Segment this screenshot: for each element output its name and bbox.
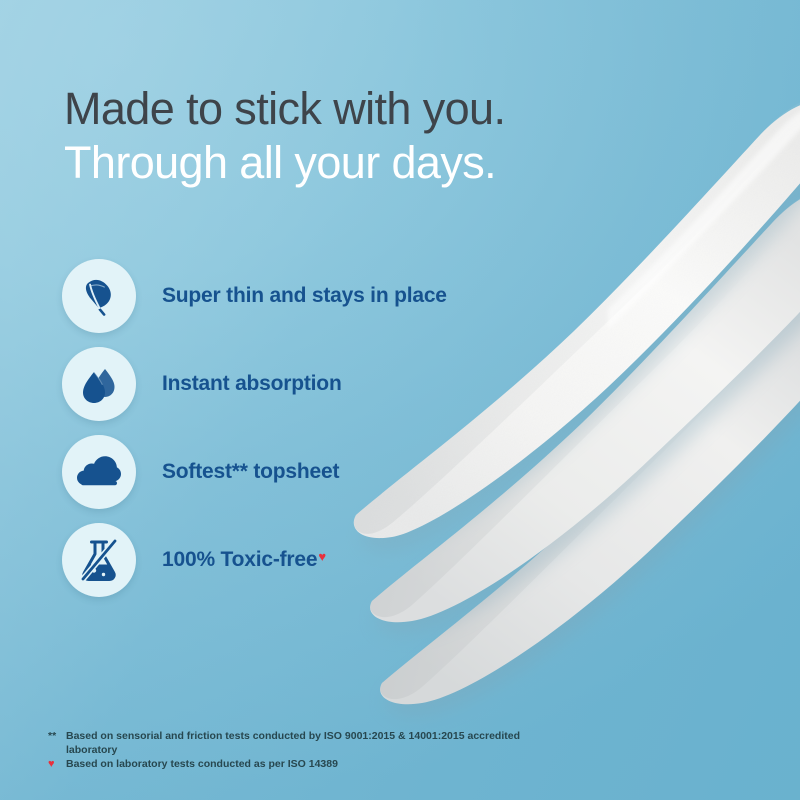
footnotes: ** Based on sensorial and friction tests… <box>48 730 568 773</box>
cloud-icon <box>62 435 136 509</box>
feature-label: Softest** topsheet <box>162 460 339 484</box>
water-drops-icon <box>62 347 136 421</box>
feather-icon <box>62 259 136 333</box>
feature-item-super-thin: Super thin and stays in place <box>62 252 532 340</box>
footnote-marker-heart: ♥ <box>48 758 66 772</box>
footnote-text: Based on sensorial and friction tests co… <box>66 730 568 757</box>
feature-label-text: Super thin and stays in place <box>162 284 447 308</box>
footnote-marker-asterisks: ** <box>48 730 66 744</box>
headline: Made to stick with you. Through all your… <box>64 82 704 190</box>
footnote-item: ♥ Based on laboratory tests conducted as… <box>48 758 568 772</box>
headline-line-2: Through all your days. <box>64 136 704 190</box>
feature-item-toxic-free: 100% Toxic-free ♥ <box>62 516 532 604</box>
feature-label: 100% Toxic-free ♥ <box>162 548 326 572</box>
footnote-text: Based on laboratory tests conducted as p… <box>66 758 568 772</box>
feature-label: Super thin and stays in place <box>162 284 447 308</box>
no-chemicals-flask-icon <box>62 523 136 597</box>
feature-item-instant-absorption: Instant absorption <box>62 340 532 428</box>
feature-label-text: Instant absorption <box>162 372 342 396</box>
heart-superscript: ♥ <box>318 550 326 563</box>
feature-list: Super thin and stays in place Instant ab… <box>62 252 532 604</box>
product-marketing-banner: Made to stick with you. Through all your… <box>0 0 800 800</box>
footnote-item: ** Based on sensorial and friction tests… <box>48 730 568 757</box>
headline-line-1: Made to stick with you. <box>64 82 704 136</box>
feature-label-text: 100% Toxic-free <box>162 548 317 572</box>
feature-item-softest-topsheet: Softest** topsheet <box>62 428 532 516</box>
feature-label: Instant absorption <box>162 372 342 396</box>
feature-label-text: Softest** topsheet <box>162 460 339 484</box>
